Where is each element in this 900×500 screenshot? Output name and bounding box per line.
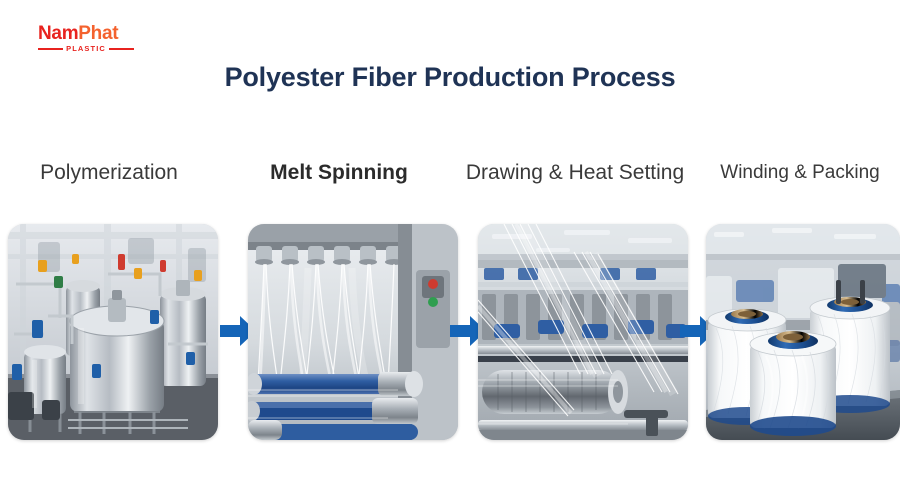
brand-logo[interactable]: NamPhat PLASTIC	[38, 24, 134, 53]
step-label-polymerization: Polymerization	[0, 156, 218, 190]
step-label-drawing-heat-setting: Drawing & Heat Setting	[455, 156, 695, 190]
step-image-winding-packing	[706, 224, 900, 440]
step-image-melt-spinning	[248, 224, 458, 440]
step-image-polymerization	[8, 224, 218, 440]
process-step-labels: Polymerization Melt Spinning Drawing & H…	[0, 156, 900, 190]
winding-packing-illustration	[706, 224, 900, 440]
polymerization-illustration	[8, 224, 218, 440]
brand-wordmark: NamPhat	[38, 24, 134, 43]
page-title: Polyester Fiber Production Process	[0, 62, 900, 93]
brand-name-part2: Phat	[78, 23, 118, 44]
tagline-rule-right	[109, 48, 134, 50]
tagline-rule-left	[38, 48, 63, 50]
step-label-winding-packing: Winding & Packing	[700, 156, 900, 190]
brand-tagline: PLASTIC	[66, 45, 106, 53]
drawing-heat-setting-illustration	[478, 224, 688, 440]
step-label-melt-spinning: Melt Spinning	[230, 156, 448, 190]
brand-tagline-row: PLASTIC	[38, 45, 134, 53]
brand-name-part1: Nam	[38, 23, 78, 44]
melt-spinning-illustration	[248, 224, 458, 440]
step-image-drawing-heat-setting	[478, 224, 688, 440]
